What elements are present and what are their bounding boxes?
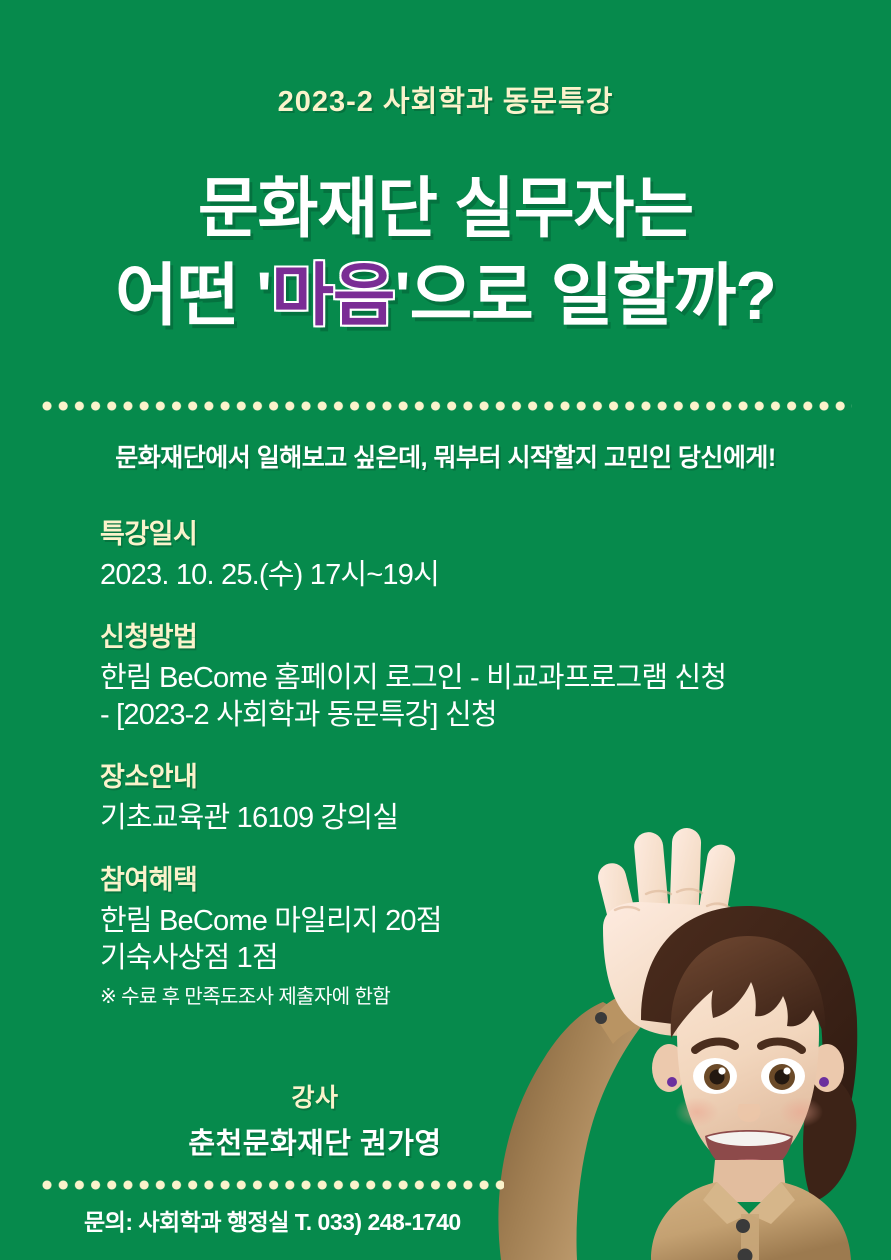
collar-left — [703, 1182, 749, 1224]
shirt-placket — [741, 1214, 759, 1260]
ponytail — [803, 1072, 856, 1202]
info-label-how-to-apply: 신청방법 — [100, 615, 740, 654]
eyebrow-left — [695, 1041, 735, 1050]
info-value-how-to-apply-line-2: - [2023-2 사회학과 동문특강] 신청 — [100, 697, 740, 735]
info-value-benefits-line-2: 기숙사상점 1점 — [100, 940, 740, 978]
dotted-divider-top — [42, 401, 852, 412]
speaker-label: 강사 — [70, 1078, 560, 1114]
poster-eyebrow-title: 2023-2 사회학과 동문특강 — [0, 78, 891, 120]
neck — [711, 1160, 787, 1202]
info-label-schedule: 특강일시 — [100, 512, 740, 551]
speaker-name: 춘천문화재단 권가영 — [70, 1120, 560, 1162]
dotted-divider-bottom — [42, 1180, 504, 1191]
eye-right — [761, 1058, 805, 1094]
shirt — [651, 1182, 851, 1260]
title-line-2: 어떤 '마음'으로 일할까? — [0, 252, 891, 340]
title-line-2-suffix: '으로 일할까? — [394, 258, 775, 334]
poster-canvas: 2023-2 사회학과 동문특강 문화재단 실무자는 어떤 '마음'으로 일할까… — [0, 0, 891, 1260]
ear-left — [652, 1044, 686, 1092]
collar-right — [749, 1182, 795, 1224]
eye-left — [693, 1058, 737, 1094]
cheek-right — [779, 1097, 823, 1127]
info-value-how-to-apply-line-1: 한림 BeCome 홈페이지 로그인 - 비교과프로그램 신청 — [100, 660, 740, 698]
title-highlight-word: 마음 — [271, 258, 394, 334]
info-label-venue: 장소안내 — [100, 755, 740, 794]
info-block-benefits: 참여혜택 한림 BeCome 마일리지 20점 기숙사상점 1점 ※ 수료 후 … — [100, 858, 740, 1009]
info-section: 특강일시 2023. 10. 25.(수) 17시~19시 신청방법 한림 Be… — [100, 512, 740, 1029]
poster-main-title: 문화재단 실무자는 어떤 '마음'으로 일할까? — [0, 166, 891, 340]
info-block-how-to-apply: 신청방법 한림 BeCome 홈페이지 로그인 - 비교과프로그램 신청 - [… — [100, 615, 740, 735]
shirt-button-2 — [738, 1249, 753, 1260]
ear-right — [810, 1044, 844, 1092]
mouth — [705, 1130, 793, 1174]
earring-left — [667, 1077, 677, 1087]
info-value-schedule-line-1: 2023. 10. 25.(수) 17시~19시 — [100, 557, 740, 595]
eyebrow-right — [761, 1041, 802, 1050]
title-line-1: 문화재단 실무자는 — [0, 166, 891, 252]
info-block-venue: 장소안내 기초교육관 16109 강의실 — [100, 755, 740, 838]
footer-contact: 문의: 사회학과 행정실 T. 033) 248-1740 — [84, 1203, 461, 1237]
info-block-schedule: 특강일시 2023. 10. 25.(수) 17시~19시 — [100, 512, 740, 595]
nose — [737, 1104, 760, 1122]
info-value-benefits-line-1: 한림 BeCome 마일리지 20점 — [100, 903, 740, 941]
title-line-2-prefix: 어떤 ' — [115, 258, 271, 334]
poster-tagline: 문화재단에서 일해보고 싶은데, 뭐부터 시작할지 고민인 당신에게! — [0, 438, 891, 474]
info-label-benefits: 참여혜택 — [100, 858, 740, 897]
cheek-left — [675, 1097, 719, 1127]
info-value-venue-line-1: 기초교육관 16109 강의실 — [100, 800, 740, 838]
info-note-benefits: ※ 수료 후 만족도조사 제출자에 한함 — [100, 980, 740, 1009]
shirt-button-1 — [736, 1219, 750, 1233]
speaker-section: 강사 춘천문화재단 권가영 — [70, 1078, 560, 1162]
earring-right — [819, 1077, 829, 1087]
